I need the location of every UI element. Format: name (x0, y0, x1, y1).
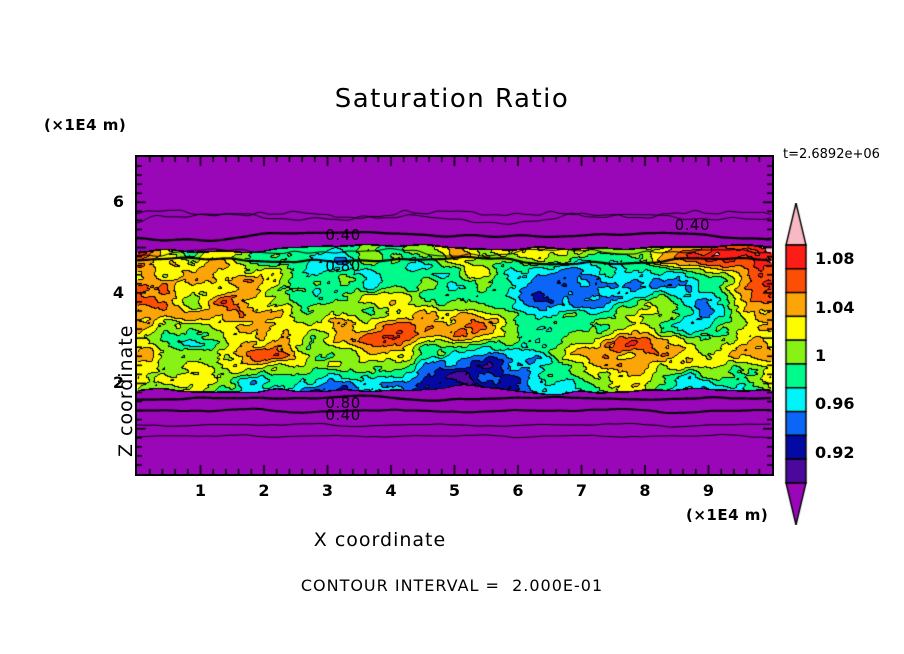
plot-area: 0.400.800.400.800.40 Z coordinate (137, 157, 772, 474)
figure-root: Saturation Ratio (×1E4 m) t=2.6892e+06 0… (0, 0, 904, 654)
colorbar-tick-label: 1 (815, 346, 826, 365)
page-title: Saturation Ratio (0, 84, 904, 114)
contour-field-canvas (137, 157, 772, 474)
colorbar-tick-label: 1.08 (815, 249, 854, 268)
y-tick-label: 4 (100, 283, 124, 302)
y-tick-label: 6 (100, 192, 124, 211)
x-tick-label: 3 (313, 481, 343, 500)
y-axis-units-label: (×1E4 m) (44, 116, 126, 134)
contour-interval-note: CONTOUR INTERVAL = 2.000E-01 (0, 576, 904, 595)
time-annotation: t=2.6892e+06 (783, 147, 880, 162)
x-tick-label: 5 (440, 481, 470, 500)
x-tick-label: 9 (694, 481, 724, 500)
x-axis-units-label: (×1E4 m) (686, 506, 768, 524)
y-tick-label: 2 (100, 373, 124, 392)
colorbar-tick-label: 0.96 (815, 394, 854, 413)
x-tick-label: 4 (376, 481, 406, 500)
colorbar-tick-label: 0.92 (815, 443, 854, 462)
x-tick-label: 8 (630, 481, 660, 500)
x-tick-label: 1 (186, 481, 216, 500)
colorbar-canvas (781, 203, 811, 525)
colorbar (781, 203, 811, 525)
contour-line-label: 0.40 (325, 406, 360, 424)
contour-line-label: 0.40 (675, 216, 710, 234)
contour-line-label: 0.40 (325, 226, 360, 244)
x-axis-label: X coordinate (0, 529, 760, 551)
x-tick-label: 7 (567, 481, 597, 500)
x-tick-label: 2 (249, 481, 279, 500)
colorbar-tick-label: 1.04 (815, 298, 854, 317)
contour-line-label: 0.80 (325, 257, 360, 275)
x-tick-label: 6 (503, 481, 533, 500)
